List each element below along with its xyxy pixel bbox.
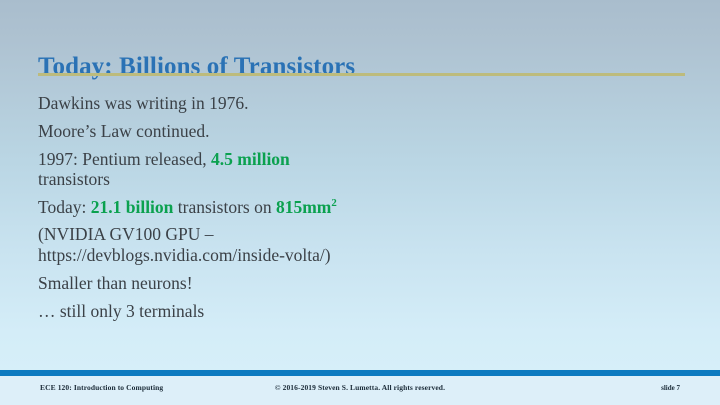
slide-canvas: Today: Billions of Transistors Dawkins w… bbox=[0, 0, 720, 405]
slide-footer: ECE 120: Introduction to Computing © 201… bbox=[0, 376, 720, 405]
body-line-moores-law: Moore’s Law continued. bbox=[38, 120, 678, 142]
today-area-exponent: 2 bbox=[331, 197, 336, 209]
pentium-suffix: transistors bbox=[38, 169, 678, 190]
source-url-row: https://devblogs.nvidia.com/inside-volta… bbox=[38, 245, 678, 266]
body-line-pentium: 1997: Pentium released, 4.5 million tran… bbox=[38, 149, 678, 190]
pentium-first-row: 1997: Pentium released, 4.5 million bbox=[38, 149, 678, 170]
body-line-dawkins: Dawkins was writing in 1976. bbox=[38, 92, 678, 114]
today-area-value: 815mm bbox=[276, 197, 331, 217]
page-title: Today: Billions of Transistors bbox=[38, 53, 355, 81]
slide-body: Dawkins was writing in 1976. Moore’s Law… bbox=[38, 92, 678, 329]
pentium-prefix: 1997: Pentium released, bbox=[38, 149, 211, 169]
source-first-row: (NVIDIA GV100 GPU – bbox=[38, 224, 678, 245]
footer-copyright-label: © 2016-2019 Steven S. Lumetta. All right… bbox=[0, 383, 720, 392]
footer-slide-number: slide 7 bbox=[661, 384, 680, 392]
body-line-three-terminals: … still only 3 terminals bbox=[38, 300, 678, 322]
body-line-smaller-than-neurons: Smaller than neurons! bbox=[38, 272, 678, 294]
pentium-highlight: 4.5 million bbox=[211, 149, 290, 169]
today-highlight-count: 21.1 billion bbox=[91, 197, 174, 217]
today-prefix: Today: bbox=[38, 197, 91, 217]
today-highlight-area: 815mm2 bbox=[276, 197, 337, 217]
body-line-source: (NVIDIA GV100 GPU – https://devblogs.nvi… bbox=[38, 224, 678, 265]
today-middle: transistors on bbox=[173, 197, 276, 217]
title-divider bbox=[38, 73, 685, 76]
body-line-today: Today: 21.1 billion transistors on 815mm… bbox=[38, 196, 678, 218]
